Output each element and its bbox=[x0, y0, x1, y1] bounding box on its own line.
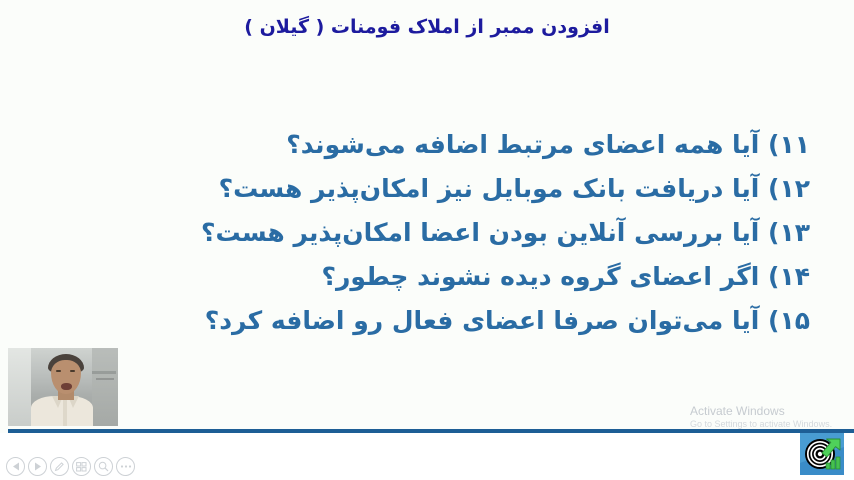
activate-windows-watermark: Activate Windows Go to Settings to activ… bbox=[690, 404, 832, 430]
ellipsis-icon bbox=[120, 464, 132, 469]
triangle-right-icon bbox=[34, 462, 42, 471]
more-options-button[interactable] bbox=[116, 457, 135, 476]
slideshow-control-bar[interactable] bbox=[6, 457, 135, 476]
zoom-in-button[interactable] bbox=[94, 457, 113, 476]
presentation-slide: افزودن ممبر از املاک فومنات ( گیلان ) ۱۱… bbox=[0, 0, 854, 480]
question-item-13: ۱۳) آیا بررسی آنلاین بودن اعضا امکان‌پذی… bbox=[40, 220, 814, 245]
webcam-person-placket bbox=[63, 400, 67, 426]
question-item-12: ۱۲) آیا دریافت بانک موبایل نیز امکان‌پذی… bbox=[40, 176, 814, 201]
webcam-shelf-secondary bbox=[96, 378, 114, 380]
webcam-shelf bbox=[92, 371, 116, 374]
question-item-11: ۱۱) آیا همه اعضای مرتبط اضافه می‌شوند؟ bbox=[40, 132, 814, 157]
pen-icon bbox=[54, 461, 65, 472]
brand-logo bbox=[800, 433, 844, 475]
magnifier-icon bbox=[98, 461, 109, 472]
pen-tool-button[interactable] bbox=[50, 457, 69, 476]
triangle-left-icon bbox=[12, 462, 20, 471]
grid-icon bbox=[76, 462, 87, 472]
target-arrow-logo-icon bbox=[800, 433, 844, 475]
watermark-title: Activate Windows bbox=[690, 404, 832, 418]
webcam-video-overlay bbox=[8, 348, 118, 426]
webcam-wall-left bbox=[8, 348, 31, 426]
webcam-person-eye-right bbox=[70, 370, 75, 372]
previous-slide-button[interactable] bbox=[6, 457, 25, 476]
question-list: ۱۱) آیا همه اعضای مرتبط اضافه می‌شوند؟ ۱… bbox=[40, 132, 814, 352]
question-item-14: ۱۴) اگر اعضای گروه دیده نشوند چطور؟ bbox=[40, 264, 814, 289]
next-slide-button[interactable] bbox=[28, 457, 47, 476]
webcam-person-eye-left bbox=[56, 370, 61, 372]
webcam-person-mouth bbox=[61, 383, 72, 390]
webcam-wall-right bbox=[92, 348, 118, 426]
slide-title: افزودن ممبر از املاک فومنات ( گیلان ) bbox=[0, 16, 854, 38]
question-item-15: ۱۵) آیا می‌توان صرفا اعضای فعال رو اضافه… bbox=[40, 308, 814, 333]
all-slides-button[interactable] bbox=[72, 457, 91, 476]
